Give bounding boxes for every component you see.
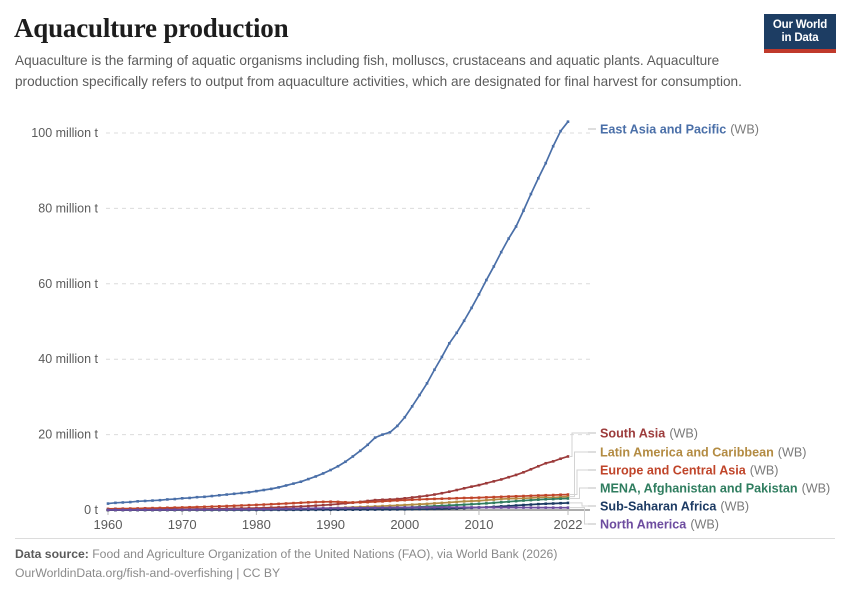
legend-item-suffix: (WB) [720, 500, 749, 514]
legend-item-suffix: (WB) [669, 427, 698, 441]
series-data-point[interactable] [396, 499, 399, 502]
series-data-point[interactable] [500, 501, 503, 504]
series-data-point[interactable] [478, 293, 481, 296]
series-data-point[interactable] [277, 508, 280, 511]
series-data-point[interactable] [544, 502, 547, 505]
series-data-point[interactable] [285, 508, 288, 511]
series-data-point[interactable] [567, 493, 570, 496]
series-data-point[interactable] [493, 496, 496, 499]
series-data-point[interactable] [411, 506, 414, 509]
series-data-point[interactable] [470, 307, 473, 310]
series-data-point[interactable] [366, 501, 369, 504]
series-data-point[interactable] [129, 509, 132, 512]
series-data-point[interactable] [470, 506, 473, 509]
series-data-point[interactable] [300, 501, 303, 504]
series-data-point[interactable] [500, 251, 503, 254]
series-data-point[interactable] [263, 503, 266, 506]
series-data-point[interactable] [552, 460, 555, 463]
legend-item-suffix: (WB) [778, 446, 807, 460]
series-data-point[interactable] [314, 501, 317, 504]
series-data-point[interactable] [240, 508, 243, 511]
x-axis-tick-labels: 1960197019801990200020102022 [94, 517, 583, 532]
series-data-point[interactable] [433, 368, 436, 371]
series-data-point[interactable] [344, 501, 347, 504]
series-data-point[interactable] [567, 502, 570, 505]
series-data-point[interactable] [448, 342, 451, 345]
series-data-point[interactable] [255, 504, 258, 507]
series-data-point[interactable] [166, 498, 169, 501]
series-data-point[interactable] [515, 225, 518, 228]
series-data-point[interactable] [552, 145, 555, 148]
legend-item[interactable]: MENA, Afghanistan and Pakistan(WB) [600, 482, 830, 496]
series-data-point[interactable] [136, 509, 139, 512]
data-series-group[interactable] [107, 120, 570, 511]
y-axis-tick-label: 80 million t [38, 201, 98, 215]
series-data-point[interactable] [537, 465, 540, 468]
series-data-point[interactable] [211, 505, 214, 508]
legend-item[interactable]: Sub-Saharan Africa(WB) [600, 500, 749, 514]
series-data-point[interactable] [107, 509, 110, 512]
series-data-point[interactable] [151, 508, 154, 511]
series-data-point[interactable] [418, 495, 421, 498]
series-data-point[interactable] [196, 506, 199, 509]
series-data-point[interactable] [292, 482, 295, 485]
series-data-point[interactable] [144, 500, 147, 503]
series-data-point[interactable] [389, 500, 392, 503]
footer-divider [15, 538, 835, 539]
series-data-point[interactable] [448, 501, 451, 504]
series-data-point[interactable] [530, 468, 533, 471]
series-data-point[interactable] [478, 506, 481, 509]
series-data-point[interactable] [329, 507, 332, 510]
series-data-point[interactable] [485, 502, 488, 505]
series-data-point[interactable] [188, 497, 191, 500]
series-data-point[interactable] [426, 498, 429, 501]
series-data-point[interactable] [203, 508, 206, 511]
series-data-point[interactable] [225, 493, 228, 496]
series-data-point[interactable] [329, 503, 332, 506]
legend-item-label: East Asia and Pacific [600, 123, 726, 137]
y-axis-tick-label: 100 million t [31, 126, 98, 140]
legend-item-label: Sub-Saharan Africa [600, 500, 717, 514]
series-data-point[interactable] [426, 503, 429, 506]
series-data-point[interactable] [337, 501, 340, 504]
series-data-point[interactable] [470, 503, 473, 506]
series-data-point[interactable] [352, 507, 355, 510]
series-data-point[interactable] [522, 209, 525, 212]
series-data-point[interactable] [322, 501, 325, 504]
series-data-point[interactable] [159, 499, 162, 502]
series-data-point[interactable] [255, 490, 258, 493]
series-data-point[interactable] [544, 498, 547, 501]
series-data-point[interactable] [225, 508, 228, 511]
series-data-point[interactable] [240, 492, 243, 495]
series-data-point[interactable] [522, 506, 525, 509]
series-data-point[interactable] [277, 486, 280, 489]
series-data-point[interactable] [455, 497, 458, 500]
series-data-point[interactable] [441, 506, 444, 509]
series-data-point[interactable] [233, 492, 236, 495]
series-data-point[interactable] [344, 507, 347, 510]
series-data-point[interactable] [352, 455, 355, 458]
legend-group[interactable]: East Asia and Pacific(WB)South Asia(WB)L… [569, 123, 830, 532]
series-data-point[interactable] [173, 498, 176, 501]
series-data-point[interactable] [181, 506, 184, 509]
series-data-point[interactable] [263, 489, 266, 492]
series-data-point[interactable] [515, 474, 518, 477]
series-data-point[interactable] [463, 503, 466, 506]
attribution-line[interactable]: OurWorldinData.org/fish-and-overfishing … [15, 564, 715, 583]
series-data-point[interactable] [411, 496, 414, 499]
series-data-point[interactable] [211, 508, 214, 511]
series-data-point[interactable] [485, 279, 488, 282]
series-data-point[interactable] [314, 507, 317, 510]
series-data-point[interactable] [285, 484, 288, 487]
series-data-point[interactable] [544, 462, 547, 465]
series-data-point[interactable] [352, 501, 355, 504]
series-data-point[interactable] [196, 508, 199, 511]
series-data-point[interactable] [329, 500, 332, 503]
series-data-point[interactable] [292, 502, 295, 505]
legend-connector-elbow [569, 470, 588, 495]
series-data-point[interactable] [470, 485, 473, 488]
series-data-point[interactable] [218, 505, 221, 508]
series-data-point[interactable] [567, 497, 570, 500]
series-data-point[interactable] [485, 506, 488, 509]
series-data-point[interactable] [374, 506, 377, 509]
series-data-point[interactable] [359, 507, 362, 510]
series-data-point[interactable] [441, 356, 444, 359]
series-data-point[interactable] [248, 508, 251, 511]
series-data-point[interactable] [463, 487, 466, 490]
series-data-point[interactable] [218, 508, 221, 511]
series-data-point[interactable] [433, 493, 436, 496]
series-data-point[interactable] [285, 502, 288, 505]
legend-item[interactable]: East Asia and Pacific(WB) [600, 123, 759, 137]
series-data-point[interactable] [396, 506, 399, 509]
series-data-point[interactable] [478, 496, 481, 499]
series-data-point[interactable] [559, 502, 562, 505]
series-data-point[interactable] [322, 507, 325, 510]
series-data-point[interactable] [493, 498, 496, 501]
series-data-point[interactable] [300, 480, 303, 483]
series-data-point[interactable] [515, 506, 518, 509]
series-data-point[interactable] [381, 506, 384, 509]
series-data-point[interactable] [537, 506, 540, 509]
series-data-point[interactable] [507, 500, 510, 503]
series-data-point[interactable] [159, 508, 162, 511]
series-data-point[interactable] [122, 501, 125, 504]
series-data-point[interactable] [225, 505, 228, 508]
series-line[interactable] [108, 122, 568, 504]
series-data-point[interactable] [277, 503, 280, 506]
chart-plot-area[interactable]: 0 t20 million t40 million t60 million t8… [0, 112, 850, 532]
series-data-point[interactable] [544, 494, 547, 497]
x-axis-tick-label: 1990 [316, 517, 345, 532]
series-data-point[interactable] [403, 416, 406, 419]
series-data-point[interactable] [448, 506, 451, 509]
series-data-point[interactable] [381, 433, 384, 436]
series-data-point[interactable] [248, 491, 251, 494]
series-data-point[interactable] [181, 497, 184, 500]
x-axis-tick-label: 2022 [554, 517, 583, 532]
series-data-point[interactable] [530, 494, 533, 497]
series-data-point[interactable] [144, 509, 147, 512]
series-data-point[interactable] [107, 502, 110, 505]
series-data-point[interactable] [389, 506, 392, 509]
series-data-point[interactable] [188, 508, 191, 511]
series-data-point[interactable] [403, 506, 406, 509]
series-data-point[interactable] [136, 500, 139, 503]
series-data-point[interactable] [418, 503, 421, 506]
series-data-point[interactable] [151, 499, 154, 502]
series-data-point[interactable] [374, 436, 377, 439]
series-data-point[interactable] [166, 508, 169, 511]
series-data-point[interactable] [455, 501, 458, 504]
data-source-text: Food and Agriculture Organization of the… [92, 547, 557, 561]
series-data-point[interactable] [307, 501, 310, 504]
series-data-point[interactable] [300, 507, 303, 510]
series-data-point[interactable] [374, 500, 377, 503]
series-data-point[interactable] [493, 506, 496, 509]
series-data-point[interactable] [381, 500, 384, 503]
series-data-point[interactable] [530, 503, 533, 506]
series-data-point[interactable] [433, 502, 436, 505]
series-data-point[interactable] [478, 484, 481, 487]
series-data-point[interactable] [522, 471, 525, 474]
series-data-point[interactable] [530, 506, 533, 509]
series-data-point[interactable] [552, 498, 555, 501]
series-data-point[interactable] [196, 496, 199, 499]
series-data-point[interactable] [233, 508, 236, 511]
series-data-point[interactable] [567, 506, 570, 509]
series-data-point[interactable] [114, 509, 117, 512]
series-data-point[interactable] [441, 497, 444, 500]
logo-line-1: Our World [764, 19, 836, 32]
series-data-point[interactable] [433, 506, 436, 509]
series-data-point[interactable] [233, 504, 236, 507]
series-data-point[interactable] [307, 507, 310, 510]
series-data-point[interactable] [455, 332, 458, 335]
y-axis-tick-label: 20 million t [38, 428, 98, 442]
series-data-point[interactable] [307, 505, 310, 508]
series-data-point[interactable] [292, 507, 295, 510]
x-axis-tick-label: 1970 [168, 517, 197, 532]
chart-page: Aquaculture production Aquaculture is th… [0, 0, 850, 600]
series-data-point[interactable] [500, 496, 503, 499]
y-axis-tick-label: 0 t [84, 503, 98, 517]
series-data-point[interactable] [522, 504, 525, 507]
series-data-point[interactable] [337, 507, 340, 510]
chart-subtitle: Aquaculture is the farming of aquatic or… [15, 50, 745, 92]
series-data-point[interactable] [544, 162, 547, 165]
legend-item[interactable]: South Asia(WB) [600, 427, 698, 441]
series-data-point[interactable] [418, 498, 421, 501]
series-data-point[interactable] [544, 506, 547, 509]
series-data-point[interactable] [441, 502, 444, 505]
series-data-point[interactable] [411, 503, 414, 506]
series-data-point[interactable] [270, 508, 273, 511]
series-data-point[interactable] [389, 431, 392, 434]
series-data-point[interactable] [485, 496, 488, 499]
series-data-point[interactable] [314, 475, 317, 478]
legend-item-label: North America [600, 518, 687, 532]
series-data-point[interactable] [485, 499, 488, 502]
series-data-point[interactable] [493, 480, 496, 483]
legend-connector-elbow [569, 503, 588, 506]
series-data-point[interactable] [522, 497, 525, 500]
series-data-point[interactable] [537, 177, 540, 180]
series-data-point[interactable] [530, 499, 533, 502]
series-data-point[interactable] [441, 492, 444, 495]
series-data-point[interactable] [344, 460, 347, 463]
series-data-point[interactable] [329, 469, 332, 472]
legend-item[interactable]: Europe and Central Asia(WB) [600, 464, 778, 478]
x-axis-tick-label: 1980 [242, 517, 271, 532]
y-axis-tick-labels: 0 t20 million t40 million t60 million t8… [31, 126, 98, 517]
series-data-point[interactable] [537, 494, 540, 497]
series-data-point[interactable] [203, 496, 206, 499]
series-data-point[interactable] [537, 498, 540, 501]
series-data-point[interactable] [426, 382, 429, 385]
series-data-point[interactable] [248, 504, 251, 507]
legend-item-label: Latin America and Caribbean [600, 446, 774, 460]
series-data-point[interactable] [396, 425, 399, 428]
series-data-point[interactable] [552, 506, 555, 509]
series-data-point[interactable] [522, 495, 525, 498]
x-axis-tick-label: 1960 [94, 517, 123, 532]
series-data-point[interactable] [552, 502, 555, 505]
legend-item-label: Europe and Central Asia [600, 464, 747, 478]
series-data-point[interactable] [455, 489, 458, 492]
series-data-point[interactable] [493, 265, 496, 268]
series-data-point[interactable] [114, 502, 117, 505]
our-world-in-data-logo[interactable]: Our World in Data [764, 14, 836, 53]
legend-item-suffix: (WB) [750, 464, 779, 478]
series-data-point[interactable] [411, 498, 414, 501]
legend-item[interactable]: North America(WB) [600, 518, 719, 532]
series-data-point[interactable] [211, 495, 214, 498]
series-data-point[interactable] [470, 500, 473, 503]
legend-item-label: South Asia [600, 427, 666, 441]
series-data-point[interactable] [552, 494, 555, 497]
series-data-point[interactable] [426, 506, 429, 509]
page-title: Aquaculture production [14, 12, 288, 44]
series-data-point[interactable] [426, 494, 429, 497]
legend-connector-elbow [569, 452, 588, 497]
series-data-point[interactable] [448, 497, 451, 500]
series-data-point[interactable] [515, 500, 518, 503]
series-data-point[interactable] [270, 503, 273, 506]
series-data-point[interactable] [455, 504, 458, 507]
series-data-point[interactable] [463, 319, 466, 322]
line-chart-svg[interactable]: 0 t20 million t40 million t60 million t8… [0, 112, 850, 532]
series-data-point[interactable] [337, 465, 340, 468]
series-data-point[interactable] [559, 493, 562, 496]
x-axis-tick-label: 2000 [390, 517, 419, 532]
series-data-point[interactable] [537, 503, 540, 506]
series-data-point[interactable] [173, 508, 176, 511]
series-data-point[interactable] [507, 495, 510, 498]
series-data-point[interactable] [314, 504, 317, 507]
series-data-point[interactable] [218, 494, 221, 497]
series-data-point[interactable] [567, 455, 570, 458]
series-data-point[interactable] [515, 497, 518, 500]
series-data-point[interactable] [263, 508, 266, 511]
series-data-point[interactable] [463, 500, 466, 503]
series-data-point[interactable] [307, 478, 310, 481]
series-data-point[interactable] [567, 120, 570, 123]
series-data-point[interactable] [270, 488, 273, 491]
series-data-point[interactable] [515, 495, 518, 498]
series-data-point[interactable] [403, 504, 406, 507]
series-data-point[interactable] [188, 506, 191, 509]
series-data-point[interactable] [203, 505, 206, 508]
series-data-point[interactable] [448, 490, 451, 493]
x-axis-tick-label: 2010 [465, 517, 494, 532]
legend-item-suffix: (WB) [802, 482, 831, 496]
series-data-point[interactable] [418, 506, 421, 509]
series-data-point[interactable] [500, 506, 503, 509]
y-axis-tick-label: 60 million t [38, 277, 98, 291]
series-data-point[interactable] [478, 499, 481, 502]
legend-connector-elbow [569, 433, 588, 456]
series-data-point[interactable] [129, 501, 132, 504]
series-data-point[interactable] [500, 478, 503, 481]
series-data-point[interactable] [493, 502, 496, 505]
series-data-point[interactable] [507, 506, 510, 509]
series-data-point[interactable] [366, 443, 369, 446]
series-data-point[interactable] [463, 497, 466, 500]
series-data-point[interactable] [181, 508, 184, 511]
series-data-point[interactable] [433, 498, 436, 501]
legend-item-label: MENA, Afghanistan and Pakistan [600, 482, 798, 496]
series-data-point[interactable] [559, 497, 562, 500]
series-data-point[interactable] [411, 405, 414, 408]
series-data-point[interactable] [255, 508, 258, 511]
series-data-point[interactable] [322, 472, 325, 475]
series-data-point[interactable] [122, 509, 125, 512]
series-data-point[interactable] [530, 193, 533, 196]
series-data-point[interactable] [322, 504, 325, 507]
series-data-point[interactable] [485, 482, 488, 485]
series-data-point[interactable] [559, 457, 562, 460]
logo-line-2: in Data [764, 32, 836, 45]
series-data-point[interactable] [507, 237, 510, 240]
series-data-point[interactable] [559, 130, 562, 133]
series-data-point[interactable] [403, 499, 406, 502]
series-data-point[interactable] [240, 504, 243, 507]
series-data-point[interactable] [455, 506, 458, 509]
series-data-point[interactable] [522, 499, 525, 502]
chart-footer: Data source: Food and Agriculture Organi… [15, 545, 715, 583]
series-data-point[interactable] [359, 501, 362, 504]
series-data-point[interactable] [559, 506, 562, 509]
gridlines-group [106, 133, 590, 435]
data-source-line: Data source: Food and Agriculture Organi… [15, 545, 715, 564]
y-axis-tick-label: 40 million t [38, 352, 98, 366]
series-data-point[interactable] [507, 476, 510, 479]
series-data-point[interactable] [366, 507, 369, 510]
series-data-point[interactable] [359, 450, 362, 453]
legend-item[interactable]: Latin America and Caribbean(WB) [600, 446, 806, 460]
data-source-label: Data source: [15, 547, 89, 561]
series-data-point[interactable] [418, 394, 421, 397]
series-data-point[interactable] [470, 497, 473, 500]
series-data-point[interactable] [500, 498, 503, 501]
series-data-point[interactable] [463, 506, 466, 509]
series-data-point[interactable] [478, 503, 481, 506]
